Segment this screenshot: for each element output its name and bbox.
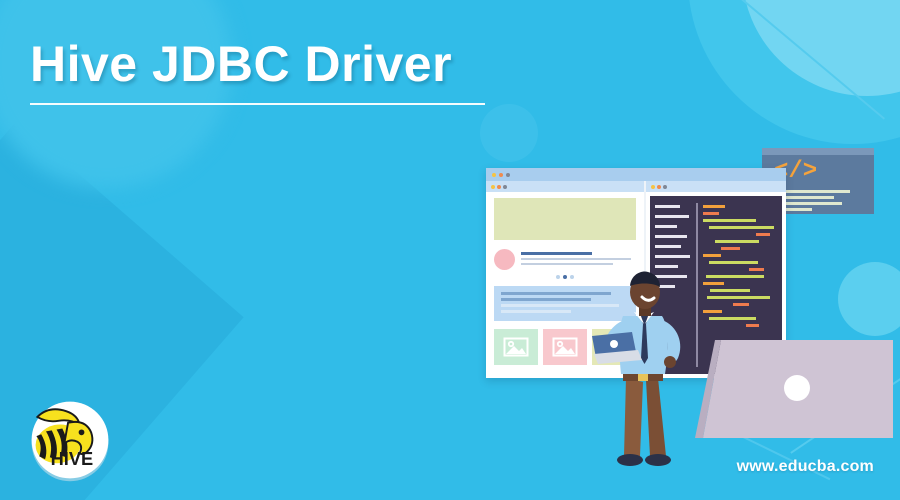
- laptop-foreground: [685, 326, 895, 456]
- code-dot-yellow: [651, 185, 655, 189]
- browser-titlebar: [486, 168, 786, 181]
- title-underline: [30, 103, 485, 105]
- code-snippet-titlebar: [762, 148, 874, 155]
- pane-dot-yellow: [491, 185, 495, 189]
- leg-left: [624, 378, 643, 456]
- pager-dot-1[interactable]: [556, 275, 560, 279]
- window-dot-orange: [499, 173, 503, 177]
- code-dot-grey: [663, 185, 667, 189]
- photo-icon: [552, 337, 578, 357]
- code-dot-orange: [657, 185, 661, 189]
- shoe-right: [645, 454, 671, 466]
- pane-dot-orange: [497, 185, 501, 189]
- image-tile-pink[interactable]: [543, 329, 587, 365]
- held-laptop-logo: [610, 340, 618, 348]
- hand-right: [664, 356, 676, 368]
- content-pane-titlebar: [486, 181, 644, 192]
- logo-wordmark: HIVE: [51, 448, 94, 469]
- site-url[interactable]: www.educba.com: [737, 458, 874, 476]
- avatar: [494, 249, 515, 270]
- window-dot-grey: [506, 173, 510, 177]
- image-tile-mint[interactable]: [494, 329, 538, 365]
- code-snippet-lines: [772, 190, 874, 211]
- apache-hive-logo: HIVE: [22, 392, 118, 488]
- photo-icon: [503, 337, 529, 357]
- leg-right: [646, 378, 666, 456]
- window-dot-yellow: [492, 173, 496, 177]
- pager-dot-2[interactable]: [563, 275, 567, 279]
- pager-dot-3[interactable]: [570, 275, 574, 279]
- hero-banner-block: [494, 198, 636, 240]
- shoe-left: [617, 454, 643, 466]
- headline-group: Hive JDBC Driver: [30, 38, 485, 105]
- standing-developer: [590, 270, 700, 470]
- banner: Hive JDBC Driver </>: [0, 0, 900, 500]
- bee-eye: [79, 429, 85, 435]
- profile-row: [494, 249, 636, 270]
- profile-text-lines: [521, 252, 636, 268]
- code-pane-titlebar: [646, 181, 786, 192]
- pane-dot-grey: [503, 185, 507, 189]
- page-title: Hive JDBC Driver: [30, 38, 485, 91]
- hero-illustration: </>: [470, 130, 900, 470]
- code-tag-icon: </>: [774, 160, 874, 184]
